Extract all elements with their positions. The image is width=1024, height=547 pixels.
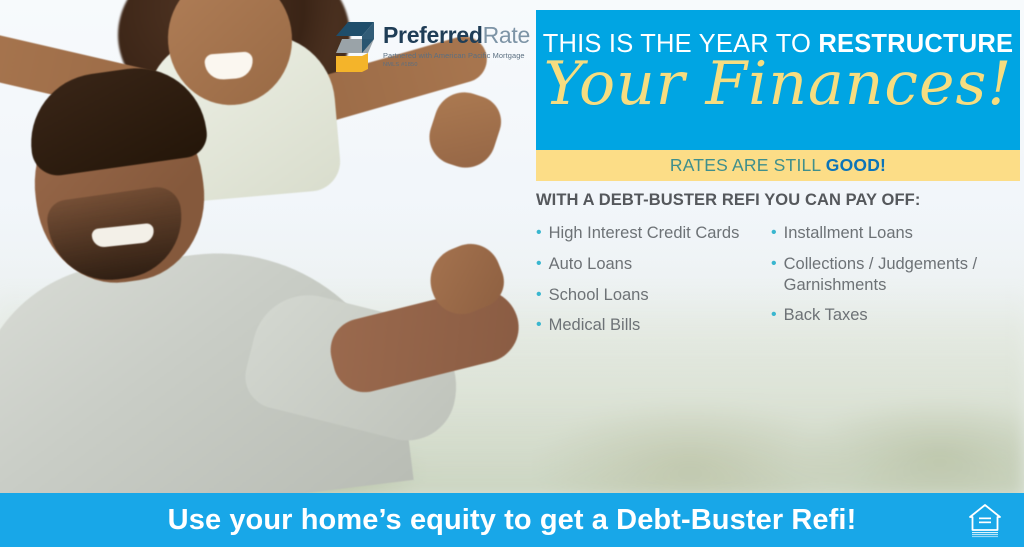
preferred-rate-logo: PreferredRate Partnered with American Pa… [334, 20, 530, 78]
bullet-icon: • [536, 223, 542, 243]
list-item-label: Auto Loans [549, 254, 632, 275]
advertisement-banner: PreferredRate Partnered with American Pa… [0, 0, 1024, 547]
logo-word-preferred: Preferred [383, 22, 483, 48]
list-item-label: High Interest Credit Cards [549, 223, 740, 244]
offer-block: WITH A DEBT-BUSTER REFI YOU CAN PAY OFF:… [536, 191, 1024, 346]
footer-cta-text: Use your home’s equity to get a Debt-Bus… [168, 504, 857, 537]
list-item: •Installment Loans [771, 223, 1021, 244]
logo-word-rate: Rate [483, 22, 530, 48]
hero-script-line: Your Finances! [536, 54, 1020, 114]
rates-text-plain: RATES ARE STILL [670, 155, 826, 175]
list-item-label: Medical Bills [549, 315, 641, 336]
list-item: •School Loans [536, 285, 771, 306]
bullet-icon: • [771, 305, 777, 325]
offer-column-left: •High Interest Credit Cards •Auto Loans … [536, 223, 771, 346]
list-item: •High Interest Credit Cards [536, 223, 771, 244]
photo-subjects [0, 27, 540, 497]
hero-blue-band: THIS IS THE YEAR TO RESTRUCTURE Your Fin… [536, 10, 1020, 150]
bullet-icon: • [536, 254, 542, 274]
bullet-icon: • [536, 285, 542, 305]
list-item: •Auto Loans [536, 254, 771, 275]
logo-text-block: PreferredRate Partnered with American Pa… [383, 20, 530, 68]
bullet-icon: • [771, 223, 777, 243]
bullet-icon: • [771, 254, 777, 274]
offer-column-right: •Installment Loans •Collections / Judgem… [771, 223, 1021, 346]
preferred-rate-logo-mark [334, 20, 376, 78]
rates-text-emphasis: GOOD! [826, 155, 886, 175]
offer-headline: WITH A DEBT-BUSTER REFI YOU CAN PAY OFF: [536, 191, 1024, 210]
logo-tagline: Partnered with American Pacific Mortgage [383, 51, 530, 60]
rates-text: RATES ARE STILL GOOD! [670, 155, 886, 176]
daughter-hand [422, 85, 508, 176]
list-item-label: Collections / Judgements / Garnishments [784, 254, 1021, 296]
list-item: •Medical Bills [536, 315, 771, 336]
list-item-label: School Loans [549, 285, 649, 306]
list-item: •Collections / Judgements / Garnishments [771, 254, 1021, 296]
rates-band: RATES ARE STILL GOOD! [536, 150, 1020, 181]
list-item-label: Installment Loans [784, 223, 913, 244]
offer-columns: •High Interest Credit Cards •Auto Loans … [536, 223, 1024, 346]
list-item-label: Back Taxes [784, 305, 868, 326]
footer-banner: Use your home’s equity to get a Debt-Bus… [0, 493, 1024, 547]
equal-housing-opportunity-icon [968, 502, 1002, 538]
logo-nmls-id: NMLS #1850 [383, 62, 530, 68]
logo-wordmark: PreferredRate [383, 24, 530, 47]
list-item: •Back Taxes [771, 305, 1021, 326]
bullet-icon: • [536, 315, 542, 335]
hero-panel: THIS IS THE YEAR TO RESTRUCTURE Your Fin… [536, 10, 1020, 181]
